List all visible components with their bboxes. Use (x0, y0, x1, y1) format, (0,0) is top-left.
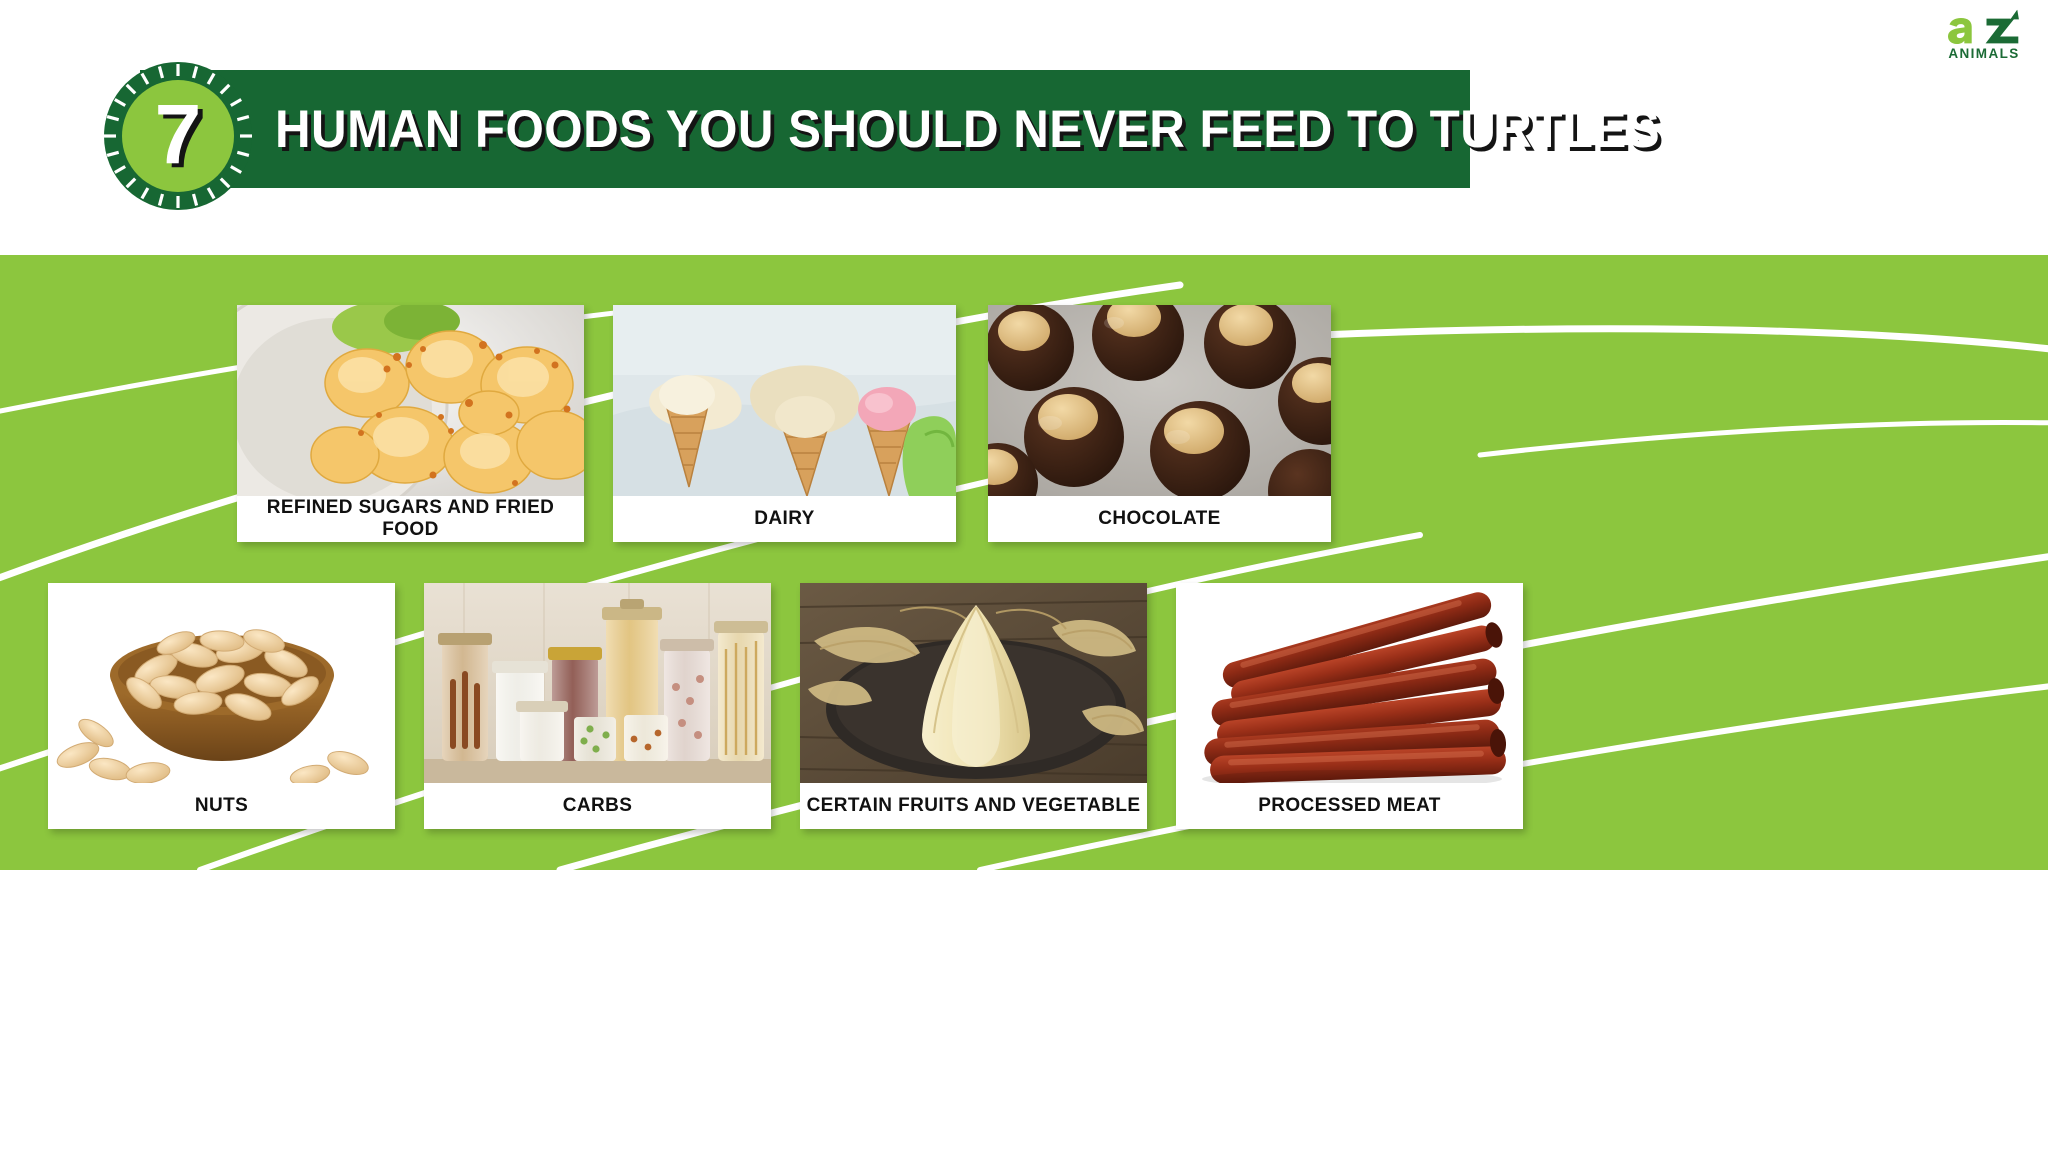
food-card[interactable]: NUTS (48, 583, 395, 829)
az-logo-mark (1941, 6, 2027, 46)
card-label: NUTS (48, 783, 395, 829)
bowl-of-nuts-photo (48, 583, 395, 783)
badge-number: 7 (155, 92, 202, 176)
card-label: CARBS (424, 783, 771, 829)
food-card[interactable]: PROCESSED MEAT (1176, 583, 1523, 829)
food-card[interactable]: CERTAIN FRUITS AND VEGETABLE (800, 583, 1147, 829)
card-label: REFINED SUGARS AND FRIED FOOD (237, 496, 584, 542)
badge-inner-circle: 7 (122, 80, 234, 192)
card-label: CERTAIN FRUITS AND VEGETABLE (800, 783, 1147, 829)
card-label: CHOCOLATE (988, 496, 1331, 542)
page-title: HUMAN FOODS YOU SHOULD NEVER FEED TO TUR… (275, 70, 1391, 188)
food-card[interactable]: CARBS (424, 583, 771, 829)
food-card[interactable]: REFINED SUGARS AND FRIED FOOD (237, 305, 584, 542)
logo-wordmark: ANIMALS (1948, 47, 2019, 61)
pantry-jars-grains-photo (424, 583, 771, 783)
number-badge: 7 (104, 62, 252, 210)
card-label: DAIRY (613, 496, 956, 542)
az-animals-logo: ANIMALS (1936, 6, 2032, 64)
fried-food-photo (237, 305, 584, 496)
food-card[interactable]: DAIRY (613, 305, 956, 542)
card-label: PROCESSED MEAT (1176, 783, 1523, 829)
meat-sticks-photo (1176, 583, 1523, 783)
ice-cream-cones-photo (613, 305, 956, 496)
chocolate-buckeyes-photo (988, 305, 1331, 496)
food-card[interactable]: CHOCOLATE (988, 305, 1331, 542)
bamboo-shoot-photo (800, 583, 1147, 783)
